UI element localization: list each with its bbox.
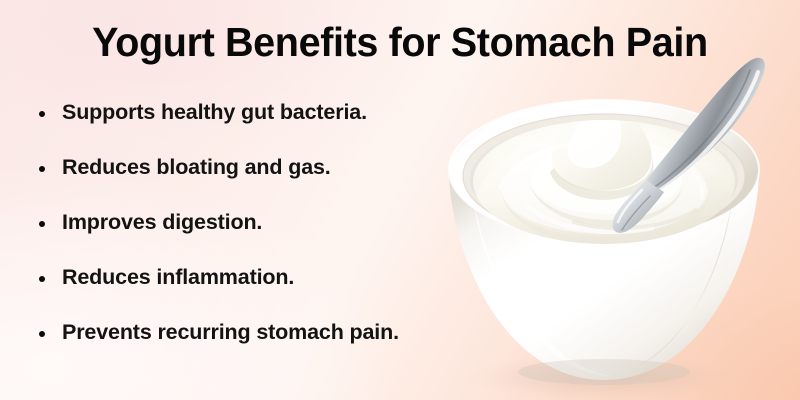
infographic-canvas: Yogurt Benefits for Stomach Pain Support… bbox=[0, 0, 800, 400]
list-item: Improves digestion. bbox=[36, 208, 466, 263]
benefit-label: Improves digestion. bbox=[62, 208, 262, 236]
benefit-label: Reduces bloating and gas. bbox=[62, 153, 331, 181]
page-title: Yogurt Benefits for Stomach Pain bbox=[14, 18, 786, 66]
bullet-dot-icon bbox=[39, 111, 45, 117]
bullet-dot-icon bbox=[39, 166, 45, 172]
benefit-label: Supports healthy gut bacteria. bbox=[62, 98, 367, 126]
bullet-dot-icon bbox=[39, 276, 45, 282]
list-item: Reduces inflammation. bbox=[36, 263, 466, 318]
benefit-label: Reduces inflammation. bbox=[62, 263, 294, 291]
list-item: Prevents recurring stomach pain. bbox=[36, 318, 466, 373]
benefit-label: Prevents recurring stomach pain. bbox=[62, 318, 399, 346]
bullet-dot-icon bbox=[39, 221, 45, 227]
list-item: Reduces bloating and gas. bbox=[36, 153, 466, 208]
benefits-list: Supports healthy gut bacteria. Reduces b… bbox=[36, 98, 466, 373]
bullet-dot-icon bbox=[39, 331, 45, 337]
list-item: Supports healthy gut bacteria. bbox=[36, 98, 466, 153]
